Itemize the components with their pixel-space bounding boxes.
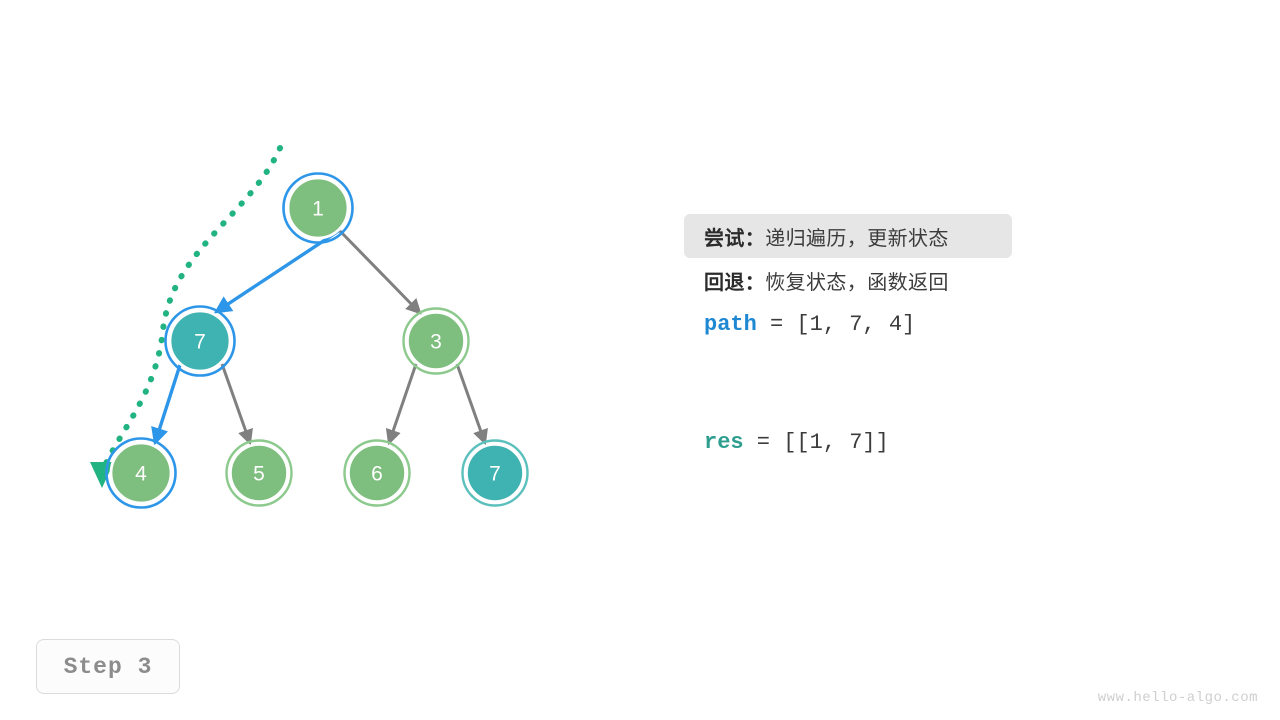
tree-node-5-label: 5 — [253, 463, 265, 486]
tree-node-7-left[interactable]: 7 — [166, 307, 235, 376]
state-info-panel: 尝试：递归遍历，更新状态 回退：恢复状态，函数返回 path = [1, 7, … — [684, 214, 1104, 464]
try-step-row: 尝试：递归遍历，更新状态 — [684, 214, 1012, 258]
tree-node-1-label: 1 — [312, 198, 324, 221]
tree-node-3[interactable]: 3 — [404, 309, 469, 374]
backtrack-step-label: 回退： — [704, 266, 765, 295]
res-variable-name: res — [704, 430, 744, 455]
tree-node-5[interactable]: 5 — [227, 441, 292, 506]
tree-node-3-label: 3 — [430, 331, 442, 354]
tree-node-6-label: 6 — [371, 463, 383, 486]
edge-1-to-3 — [340, 231, 420, 313]
edge-7-to-4 — [155, 365, 180, 443]
path-variable-row: path = [1, 7, 4] — [684, 302, 1104, 346]
diagram-canvas: 1 7 3 4 5 6 — [0, 0, 1280, 720]
tree-node-4-label: 4 — [135, 463, 147, 486]
tree-node-7-right[interactable]: 7 — [463, 441, 528, 506]
backtrack-step-row: 回退：恢复状态，函数返回 — [684, 258, 1104, 302]
watermark: www.hello-algo.com — [1098, 690, 1258, 706]
backtrack-step-text: 恢复状态，函数返回 — [765, 266, 949, 295]
tree-node-6[interactable]: 6 — [345, 441, 410, 506]
panel-spacer — [684, 346, 1104, 420]
tree-node-1[interactable]: 1 — [284, 174, 353, 243]
try-step-label: 尝试： — [704, 222, 765, 251]
res-variable-row: res = [[1, 7]] — [684, 420, 1104, 464]
res-variable-value: = [[1, 7]] — [744, 430, 889, 455]
edge-3-to-6 — [389, 364, 416, 443]
edge-7-to-5 — [222, 364, 250, 443]
path-variable-value: = [1, 7, 4] — [757, 312, 915, 337]
tree-node-4[interactable]: 4 — [107, 439, 176, 508]
tree-node-7-left-label: 7 — [194, 331, 206, 354]
edge-3-to-7r — [457, 364, 485, 443]
path-variable-name: path — [704, 312, 757, 337]
tree-node-7-right-label: 7 — [489, 463, 501, 486]
step-badge: Step 3 — [36, 639, 180, 694]
try-step-text: 递归遍历，更新状态 — [765, 222, 949, 251]
